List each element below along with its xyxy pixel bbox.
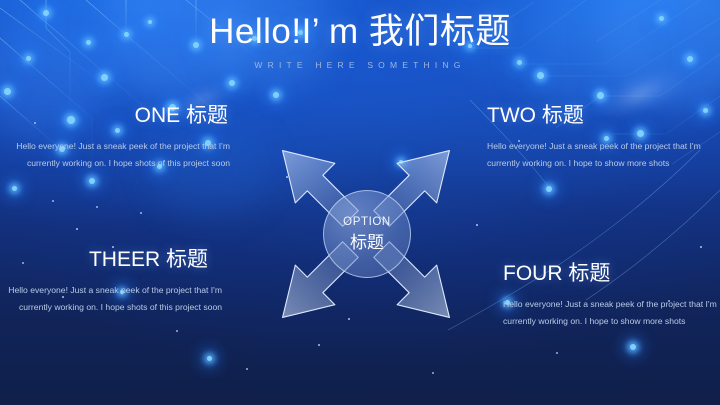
option-diagram: OPTION 标题 — [232, 88, 500, 380]
content-block-three: THEER 标题 Hello everyone! Just a sneak pe… — [6, 248, 222, 316]
glow-node — [207, 356, 212, 361]
glow-node — [597, 92, 604, 99]
glow-node — [4, 88, 11, 95]
star-speck — [96, 206, 98, 208]
content-block-one-body: Hello everyone! Just a sneak peek of the… — [14, 138, 230, 172]
star-speck — [556, 352, 558, 354]
star-speck — [52, 200, 54, 202]
star-speck — [700, 246, 702, 248]
content-block-four: FOUR 标题 Hello everyone! Just a sneak pee… — [503, 262, 719, 330]
content-block-four-body: Hello everyone! Just a sneak peek of the… — [503, 296, 719, 330]
glow-node — [89, 178, 95, 184]
star-speck — [76, 228, 78, 230]
content-block-one-heading: ONE 标题 — [14, 104, 228, 127]
glow-node — [101, 74, 108, 81]
option-circle-label-cn: 标题 — [350, 234, 384, 251]
content-block-one: ONE 标题 Hello everyone! Just a sneak peek… — [14, 104, 230, 172]
star-speck — [176, 330, 178, 332]
content-block-two-body: Hello everyone! Just a sneak peek of the… — [487, 138, 703, 172]
content-block-four-heading: FOUR 标题 — [503, 262, 719, 285]
glow-node — [537, 72, 544, 79]
page-subtitle: WRITE HERE SOMETHING — [0, 60, 720, 70]
glow-node — [630, 344, 636, 350]
content-block-three-body: Hello everyone! Just a sneak peek of the… — [6, 282, 222, 316]
content-block-three-heading: THEER 标题 — [6, 248, 208, 271]
glow-node — [12, 186, 17, 191]
glow-node — [229, 80, 235, 86]
content-block-two: TWO 标题 Hello everyone! Just a sneak peek… — [487, 104, 703, 172]
option-circle[interactable]: OPTION 标题 — [323, 190, 411, 278]
page-title: Hello!I’ m 我们标题 — [0, 12, 720, 52]
glow-node — [703, 108, 708, 113]
content-block-two-heading: TWO 标题 — [487, 104, 703, 127]
presentation-slide: Hello!I’ m 我们标题 WRITE HERE SOMETHING — [0, 0, 720, 405]
glow-node — [546, 186, 552, 192]
title-area: Hello!I’ m 我们标题 WRITE HERE SOMETHING — [0, 12, 720, 70]
option-circle-label-en: OPTION — [343, 217, 391, 229]
star-speck — [140, 212, 142, 214]
